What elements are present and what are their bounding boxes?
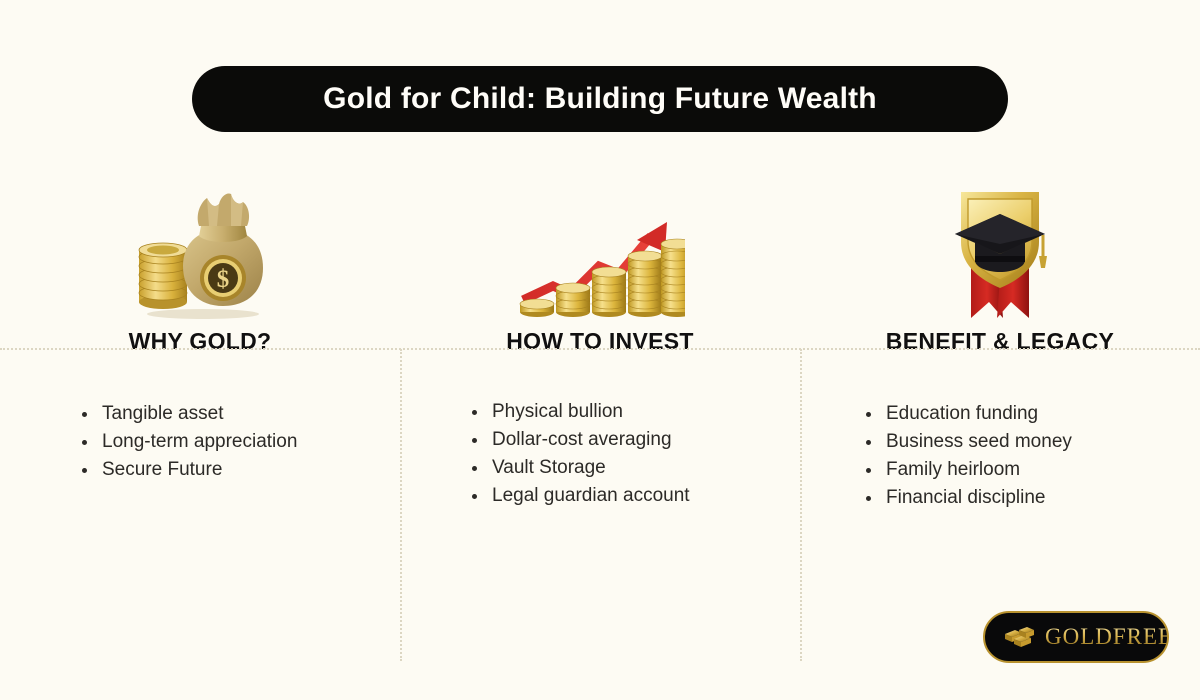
money-bag-with-coins-icon: $ (125, 170, 275, 320)
bullet-list-how-to-invest: Physical bullion Dollar-cost averaging V… (400, 398, 800, 510)
column-benefit-legacy: BENEFIT & LEGACY (800, 160, 1200, 355)
list-item: Family heirloom (862, 456, 1200, 484)
column-why-gold: $ WHY GOLD? (0, 160, 400, 355)
list-item: Physical bullion (468, 398, 800, 426)
list-item: Tangible asset (78, 400, 400, 428)
list-item: Education funding (862, 400, 1200, 428)
bullet-list-why-gold: Tangible asset Long-term appreciation Se… (0, 400, 400, 484)
title-banner: Gold for Child: Building Future Wealth (192, 66, 1008, 132)
list-item: Legal guardian account (468, 482, 800, 510)
horizontal-dotted-divider (0, 348, 1200, 350)
list-item: Dollar-cost averaging (468, 426, 800, 454)
svg-text:$: $ (217, 266, 230, 293)
list-item: Long-term appreciation (78, 428, 400, 456)
gold-bars-icon (1001, 621, 1037, 654)
column-heading: BENEFIT & LEGACY (886, 328, 1114, 355)
column-heading: HOW TO INVEST (506, 328, 693, 355)
column-heading: WHY GOLD? (129, 328, 272, 355)
list-item: Business seed money (862, 428, 1200, 456)
column-how-to-invest: HOW TO INVEST (400, 160, 800, 355)
rising-coin-stacks-chart-icon (515, 170, 685, 320)
list-item: Vault Storage (468, 454, 800, 482)
bullet-list-benefit-legacy: Education funding Business seed money Fa… (800, 400, 1200, 512)
brand-logo-badge[interactable]: GOLDFREED (983, 611, 1169, 663)
brand-name: GOLDFREED (1045, 624, 1169, 650)
list-item: Financial discipline (862, 484, 1200, 512)
list-item: Secure Future (78, 456, 400, 484)
page-title: Gold for Child: Building Future Wealth (323, 82, 877, 116)
infographic-canvas: Gold for Child: Building Future Wealth (0, 0, 1200, 700)
graduation-shield-award-icon (941, 170, 1059, 320)
